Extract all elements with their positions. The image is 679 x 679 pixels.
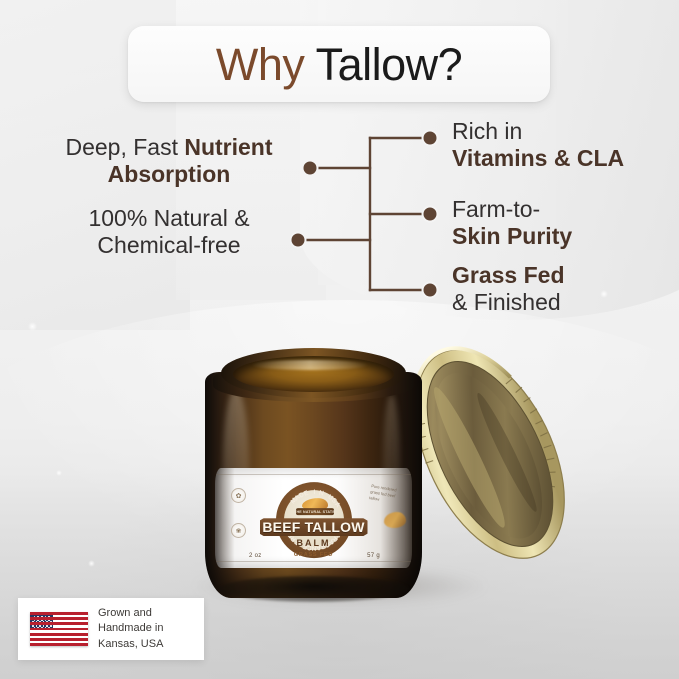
label-top-rule bbox=[215, 474, 412, 475]
flag-stripe bbox=[30, 638, 88, 641]
feature-line-2: Chemical-free bbox=[40, 232, 298, 259]
feature-line-1: Rich in bbox=[452, 118, 662, 145]
origin-badge-text: Grown and Handmade in Kansas, USA bbox=[98, 606, 163, 653]
label-side-copy: Pure rendered grass fed beef tallow bbox=[369, 483, 406, 507]
lid-skirt bbox=[410, 336, 570, 571]
flag-stripe bbox=[30, 633, 88, 636]
page-title-pill: Why Tallow? bbox=[128, 26, 550, 102]
node-dot-left-1 bbox=[303, 161, 318, 176]
infographic-canvas: Why Tallow? Deep, Fast Nutrient Absorpti… bbox=[0, 0, 679, 679]
label-bottom-rule bbox=[215, 561, 412, 562]
sparkle-2 bbox=[88, 560, 95, 567]
feature-left-natural-chemical-free: 100% Natural & Chemical-free bbox=[40, 205, 298, 259]
feature-line-2: & Finished bbox=[452, 289, 662, 316]
feature-line-1: Grass Fed bbox=[452, 262, 662, 289]
product-photo: ✿ ❀ Pure rendered grass fed beef tallow … bbox=[180, 330, 580, 620]
jar-lid bbox=[410, 336, 570, 571]
flag-star bbox=[50, 625, 52, 627]
label-net-weight-oz: 2 oz bbox=[249, 553, 262, 559]
flag-stripe bbox=[30, 643, 88, 646]
node-dot-right-1 bbox=[423, 131, 438, 146]
sparkle-4 bbox=[56, 470, 62, 476]
jar-rim-gloss bbox=[251, 360, 369, 370]
flag-stripe bbox=[30, 612, 88, 615]
feature-line-1: Farm-to- bbox=[452, 196, 662, 223]
feature-text-plain: Deep, Fast bbox=[65, 134, 184, 160]
origin-line-3: Kansas, USA bbox=[98, 637, 163, 653]
product-label: ✿ ❀ Pure rendered grass fed beef tallow … bbox=[215, 468, 412, 568]
flag-stripe bbox=[30, 617, 88, 620]
label-emblem-2: ❀ bbox=[231, 523, 246, 538]
feature-line-1: 100% Natural & bbox=[40, 205, 298, 232]
feature-line-2: Vitamins & CLA bbox=[452, 145, 662, 172]
origin-badge: Grown and Handmade in Kansas, USA bbox=[18, 598, 204, 660]
label-flame-graphic bbox=[384, 512, 406, 528]
label-badge: MADE IN USA FRAGRANCE FREE THE NATURAL S… bbox=[262, 482, 366, 560]
origin-line-1: Grown and bbox=[98, 606, 163, 622]
feature-line-2: Absorption bbox=[40, 161, 298, 188]
us-flag-icon bbox=[30, 612, 88, 646]
origin-line-2: Handmade in bbox=[98, 621, 163, 637]
sparkle-1 bbox=[28, 322, 37, 331]
feature-line-2: Skin Purity bbox=[452, 223, 662, 250]
feature-right-farm-to-skin-purity: Farm-to- Skin Purity bbox=[452, 196, 662, 250]
page-title-accent: Why bbox=[216, 39, 316, 90]
badge-brand-strip: THE NATURAL STATE bbox=[296, 508, 334, 515]
jar-base-shadow bbox=[219, 576, 409, 602]
label-emblem-1: ✿ bbox=[231, 488, 246, 503]
flag-stripe bbox=[30, 628, 88, 631]
node-dot-left-2 bbox=[291, 233, 306, 248]
feature-line-1: Deep, Fast Nutrient bbox=[40, 134, 298, 161]
page-title: Why Tallow? bbox=[216, 42, 462, 87]
feature-text-accent: Nutrient bbox=[184, 134, 272, 160]
feature-right-vitamins-cla: Rich in Vitamins & CLA bbox=[452, 118, 662, 172]
node-dot-right-2 bbox=[423, 207, 438, 222]
node-dot-right-3 bbox=[423, 283, 438, 298]
connector-diagram bbox=[290, 128, 450, 303]
badge-grass-fed: GRASS FED bbox=[262, 552, 366, 558]
label-net-weight-g: 57 g bbox=[367, 553, 380, 559]
badge-product-subtitle: BALM bbox=[262, 538, 366, 548]
feature-left-nutrient-absorption: Deep, Fast Nutrient Absorption bbox=[40, 134, 298, 188]
tallow-jar: ✿ ❀ Pure rendered grass fed beef tallow … bbox=[205, 348, 422, 598]
flag-stripe bbox=[30, 622, 88, 625]
page-title-main: Tallow? bbox=[316, 39, 463, 90]
badge-product-title: BEEF TALLOW bbox=[260, 518, 368, 536]
feature-right-grass-fed-finished: Grass Fed & Finished bbox=[452, 262, 662, 316]
